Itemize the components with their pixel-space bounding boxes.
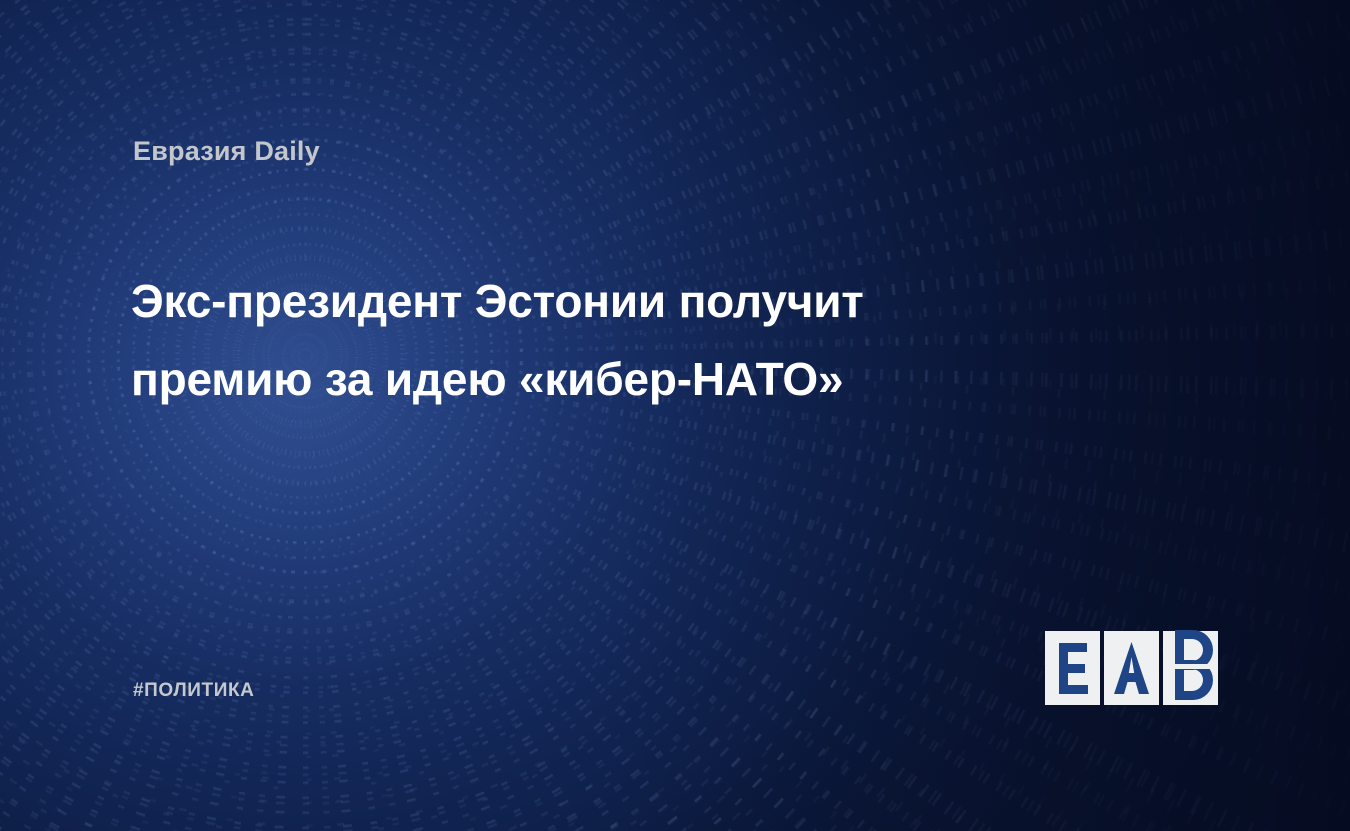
headline-line-2: премию за идею «кибер-НАТО»: [131, 340, 1031, 418]
card-content: Евразия Daily Экс-президент Эстонии полу…: [0, 0, 1350, 831]
ead-logo[interactable]: [1045, 631, 1220, 705]
brand-name: Евразия Daily: [133, 136, 320, 167]
logo-tile-d: [1163, 631, 1218, 705]
logo-tile-e: [1045, 631, 1100, 705]
category-hashtag[interactable]: #ПОЛИТИКА: [133, 680, 255, 702]
logo-tile-a: [1104, 631, 1159, 705]
logo-letter-a-icon: [1104, 631, 1159, 705]
headline-line-1: Экс-президент Эстонии получит: [131, 262, 1031, 340]
logo-d-split-band: [1163, 664, 1218, 669]
news-card: Евразия Daily Экс-президент Эстонии полу…: [0, 0, 1350, 831]
logo-letter-e-icon: [1045, 631, 1100, 705]
headline: Экс-президент Эстонии получит премию за …: [131, 262, 1031, 418]
